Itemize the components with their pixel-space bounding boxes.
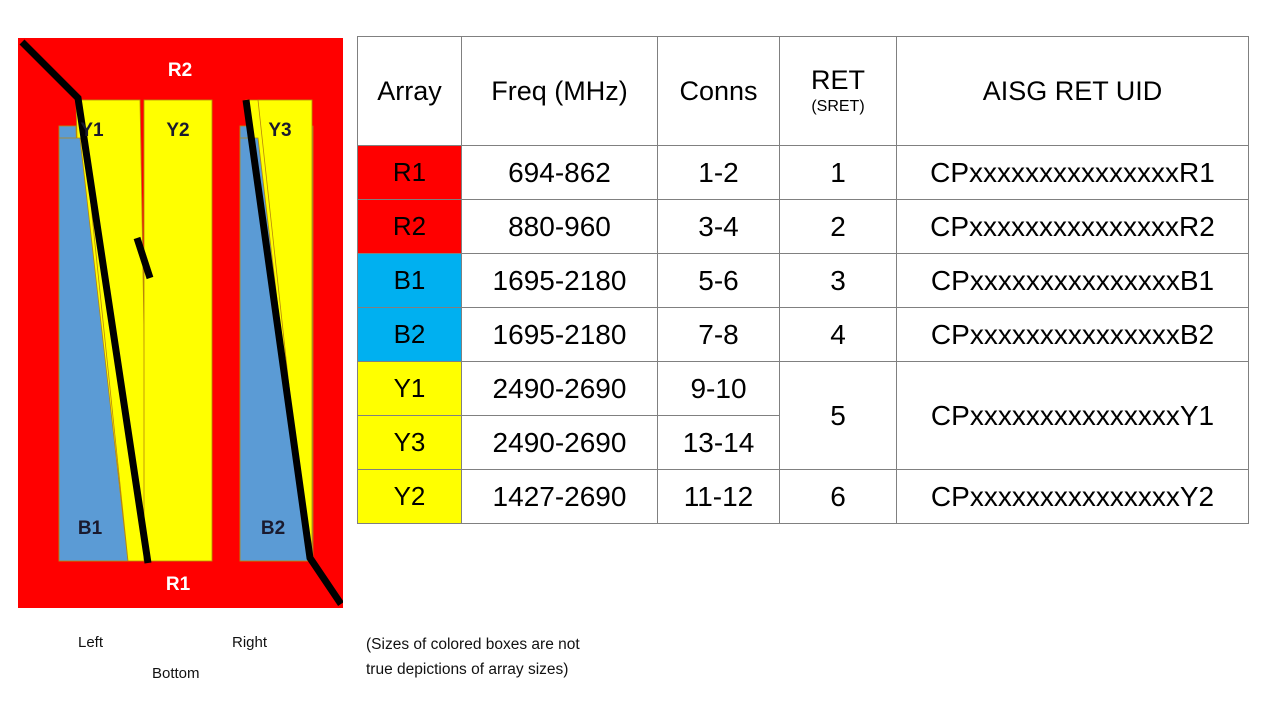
diagram-label-b1: B1 (78, 518, 103, 539)
yellow-bar-y2 (144, 100, 212, 561)
table-row: B1 1695-2180 5-6 3 CPxxxxxxxxxxxxxxxB1 (358, 254, 1249, 308)
orientation-label-bottom: Bottom (152, 665, 200, 682)
cell-ret-b2: 4 (780, 308, 897, 362)
cell-ret-y1-y3: 5 (780, 362, 897, 470)
cell-conns-y3: 13-14 (658, 416, 780, 470)
cell-array-y3: Y3 (358, 416, 462, 470)
diagram-label-r1: R1 (166, 574, 191, 595)
cell-array-y1: Y1 (358, 362, 462, 416)
column-header-ret: RET (SRET) (780, 37, 897, 146)
footnote-line-2: true depictions of array sizes) (366, 657, 696, 682)
cell-ret-r1: 1 (780, 146, 897, 200)
diagram-label-y1: Y1 (80, 120, 104, 141)
cell-ret-y2: 6 (780, 470, 897, 524)
cell-array-r1: R1 (358, 146, 462, 200)
cell-uid-r1: CPxxxxxxxxxxxxxxxR1 (897, 146, 1249, 200)
diagram-label-r2: R2 (168, 60, 192, 81)
antenna-array-diagram: R2 R1 Y1 Y2 Y3 B1 B2 (18, 38, 343, 608)
table-row: R2 880-960 3-4 2 CPxxxxxxxxxxxxxxxR2 (358, 200, 1249, 254)
table-row: R1 694-862 1-2 1 CPxxxxxxxxxxxxxxxR1 (358, 146, 1249, 200)
column-header-ret-sub: (SRET) (780, 96, 896, 118)
cell-array-b2: B2 (358, 308, 462, 362)
cell-uid-y2: CPxxxxxxxxxxxxxxxY2 (897, 470, 1249, 524)
cell-ret-b1: 3 (780, 254, 897, 308)
cell-conns-r2: 3-4 (658, 200, 780, 254)
cell-array-r2: R2 (358, 200, 462, 254)
diagram-label-y2: Y2 (166, 120, 189, 141)
column-header-array: Array (358, 37, 462, 146)
cell-array-b1: B1 (358, 254, 462, 308)
cell-array-y2: Y2 (358, 470, 462, 524)
cell-freq-b2: 1695-2180 (462, 308, 658, 362)
column-header-uid: AISG RET UID (897, 37, 1249, 146)
orientation-label-left: Left (78, 634, 103, 651)
cell-freq-y3: 2490-2690 (462, 416, 658, 470)
table-header-row: Array Freq (MHz) Conns RET (SRET) AISG R… (358, 37, 1249, 146)
cell-conns-b1: 5-6 (658, 254, 780, 308)
diagram-label-y3: Y3 (268, 120, 291, 141)
column-header-conns: Conns (658, 37, 780, 146)
cell-freq-b1: 1695-2180 (462, 254, 658, 308)
cell-freq-r1: 694-862 (462, 146, 658, 200)
cell-uid-b1: CPxxxxxxxxxxxxxxxB1 (897, 254, 1249, 308)
cell-freq-y1: 2490-2690 (462, 362, 658, 416)
cell-freq-r2: 880-960 (462, 200, 658, 254)
column-header-freq: Freq (MHz) (462, 37, 658, 146)
cell-conns-r1: 1-2 (658, 146, 780, 200)
array-spec-table: Array Freq (MHz) Conns RET (SRET) AISG R… (357, 36, 1249, 524)
cell-ret-r2: 2 (780, 200, 897, 254)
footnote-line-1: (Sizes of colored boxes are not (366, 632, 696, 657)
array-spec-table-container: Array Freq (MHz) Conns RET (SRET) AISG R… (357, 36, 1249, 524)
cell-conns-b2: 7-8 (658, 308, 780, 362)
cell-uid-y1-y3: CPxxxxxxxxxxxxxxxY1 (897, 362, 1249, 470)
cell-freq-y2: 1427-2690 (462, 470, 658, 524)
diagram-footnote: (Sizes of colored boxes are not true dep… (366, 632, 696, 682)
table-row: B2 1695-2180 7-8 4 CPxxxxxxxxxxxxxxxB2 (358, 308, 1249, 362)
table-row: Y2 1427-2690 11-12 6 CPxxxxxxxxxxxxxxxY2 (358, 470, 1249, 524)
diagram-label-b2: B2 (261, 518, 285, 539)
cell-uid-r2: CPxxxxxxxxxxxxxxxR2 (897, 200, 1249, 254)
table-row: Y1 2490-2690 9-10 5 CPxxxxxxxxxxxxxxxY1 (358, 362, 1249, 416)
cell-uid-b2: CPxxxxxxxxxxxxxxxB2 (897, 308, 1249, 362)
cell-conns-y2: 11-12 (658, 470, 780, 524)
orientation-label-right: Right (232, 634, 267, 651)
cell-conns-y1: 9-10 (658, 362, 780, 416)
column-header-ret-main: RET (780, 64, 896, 96)
